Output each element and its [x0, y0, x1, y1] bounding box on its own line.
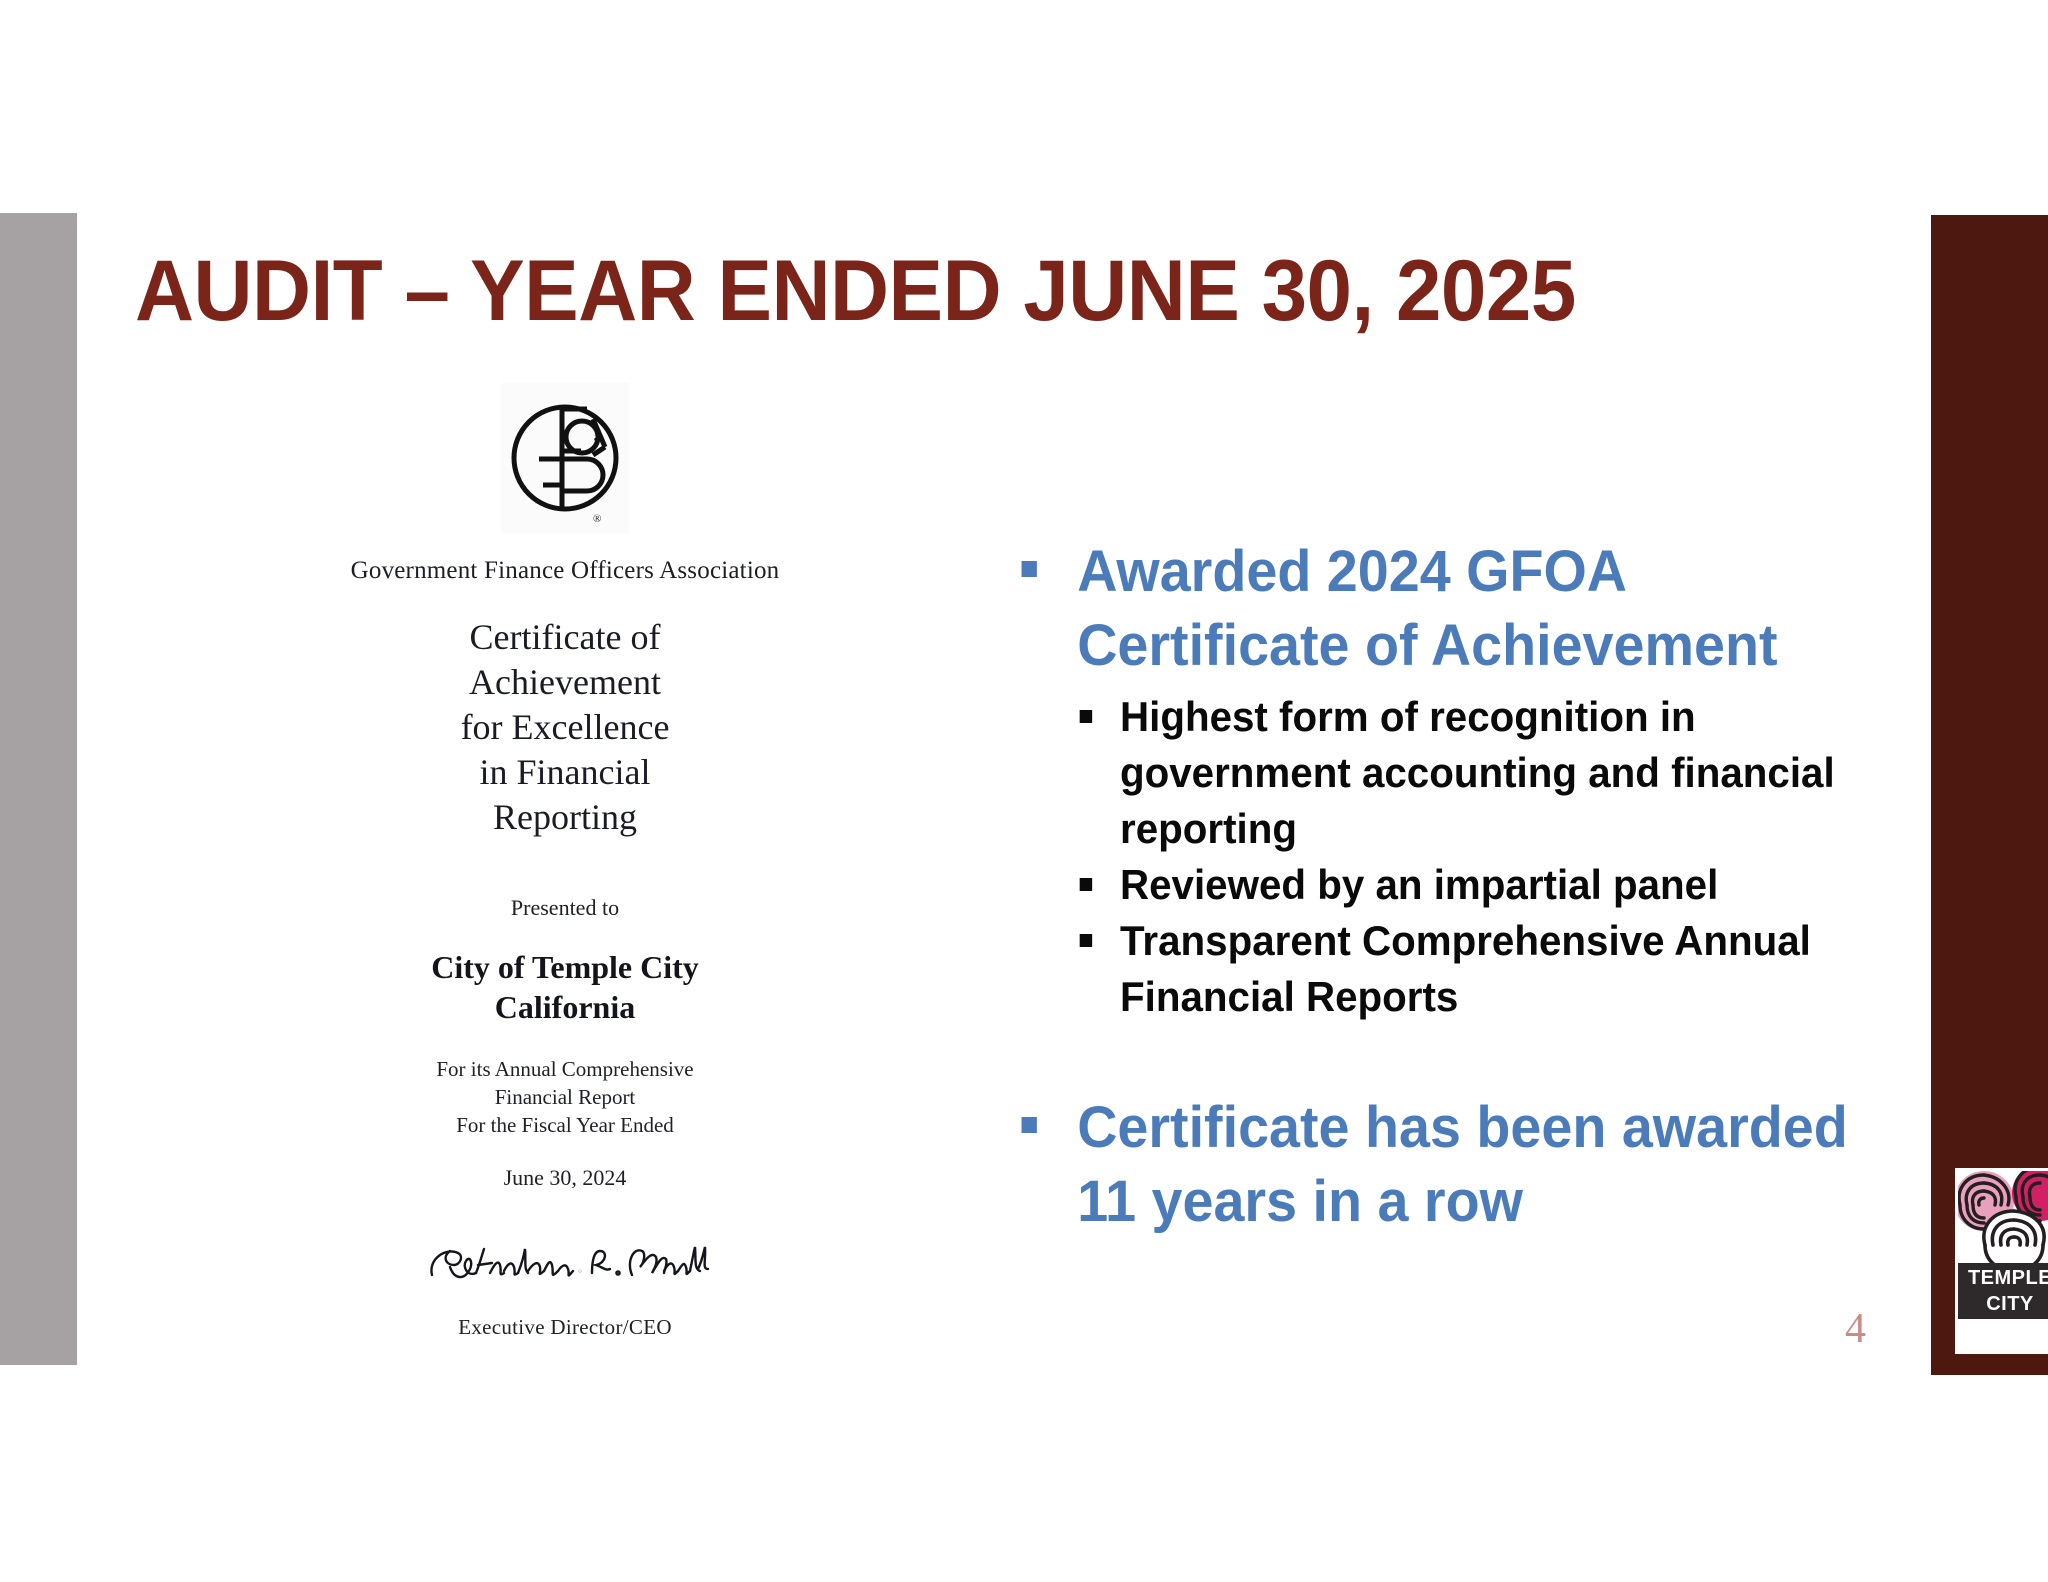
certificate-association: Government Finance Officers Association [330, 557, 800, 585]
temple-city-logo: TEMPLE CITY [1955, 1168, 2048, 1358]
certificate-report-description: For its Annual Comprehensive Financial R… [330, 1055, 800, 1139]
certificate-fiscal-year-date: June 30, 2024 [330, 1165, 800, 1191]
bullet-level1: Certificate has been awarded 11 years in… [1010, 1091, 1893, 1239]
bullet-level1-text: Awarded 2024 GFOA Certificate of Achieve… [1077, 539, 1777, 678]
temple-city-wordmark: TEMPLE CITY [1958, 1263, 2048, 1319]
bullet-content: Awarded 2024 GFOA Certificate of Achieve… [1010, 535, 1930, 1239]
slide-canvas: AUDIT – YEAR ENDED JUNE 30, 2025 [0, 0, 2048, 1582]
certificate-heading-line: Achievement [330, 660, 800, 705]
bullet-level2: Reviewed by an impartial panel [1120, 857, 1898, 913]
certificate-signature-title: Executive Director/CEO [330, 1315, 800, 1340]
wordmark-line-2: CITY [1958, 1291, 2048, 1317]
bullet-marker-icon [1080, 934, 1092, 947]
certificate-presented-label: Presented to [330, 895, 800, 921]
certificate-recipient-line: City of Temple City [330, 947, 800, 987]
bullet-level1: Awarded 2024 GFOA Certificate of Achieve… [1010, 535, 1893, 683]
bullet-level2: Transparent Comprehensive Annual Financi… [1120, 913, 1898, 1025]
certificate-report-line: For the Fiscal Year Ended [330, 1111, 800, 1139]
bullet-marker-icon [1022, 1117, 1037, 1133]
page-number: 4 [1845, 1305, 1866, 1353]
slide-title: AUDIT – YEAR ENDED JUNE 30, 2025 [135, 243, 1731, 339]
left-decorative-bar [0, 213, 77, 1365]
certificate-heading-line: for Excellence [330, 705, 800, 750]
bullet-marker-icon [1080, 710, 1092, 723]
bullet-level2-text: Transparent Comprehensive Annual Financi… [1120, 917, 1811, 1020]
bullet-marker-icon [1080, 878, 1092, 891]
bullet-level1-text: Certificate has been awarded 11 years in… [1077, 1095, 1848, 1234]
bullet-level2-text: Reviewed by an impartial panel [1120, 861, 1718, 908]
certificate-heading-line: Certificate of [330, 615, 800, 660]
bullet-spacer [1010, 1025, 1930, 1091]
certificate-heading-line: in Financial [330, 750, 800, 795]
bullet-level2: Highest form of recognition in governmen… [1120, 689, 1898, 857]
sub-bullet-list: Highest form of recognition in governmen… [1010, 689, 1930, 1025]
certificate-signature-icon [330, 1235, 800, 1305]
certificate-recipient-line: California [330, 987, 800, 1027]
camellia-flower-icon [1958, 1171, 2048, 1263]
bullet-marker-icon [1022, 561, 1037, 577]
certificate-heading: Certificate of Achievement for Excellenc… [330, 615, 800, 840]
certificate-recipient: City of Temple City California [330, 947, 800, 1027]
wordmark-line-1: TEMPLE [1958, 1265, 2048, 1291]
certificate-report-line: For its Annual Comprehensive [330, 1055, 800, 1083]
gfoa-certificate-image: ® Government Finance Officers Associatio… [330, 375, 800, 1375]
registered-trademark-icon: ® [593, 513, 601, 525]
bullet-level2-text: Highest form of recognition in governmen… [1120, 693, 1835, 852]
gfoa-logo-icon [501, 383, 629, 533]
certificate-heading-line: Reporting [330, 795, 800, 840]
certificate-report-line: Financial Report [330, 1083, 800, 1111]
